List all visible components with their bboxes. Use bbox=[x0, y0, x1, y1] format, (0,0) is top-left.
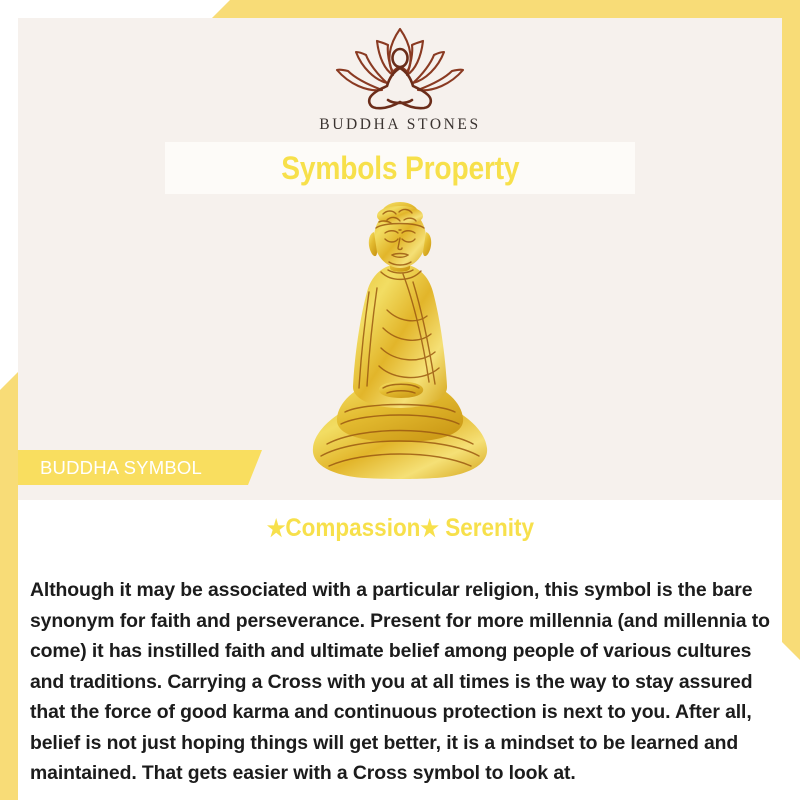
title-banner: Symbols Property bbox=[165, 142, 635, 194]
brand-name: BUDDHA STONES bbox=[0, 116, 800, 134]
star-icon-right: ★ bbox=[420, 515, 439, 541]
attribute-serenity: Serenity bbox=[445, 514, 534, 542]
decorative-left-band bbox=[0, 372, 18, 800]
attributes-subheading: ★Compassion★ Serenity bbox=[0, 514, 800, 543]
attribute-compassion: Compassion bbox=[285, 514, 420, 542]
hero-image bbox=[0, 200, 800, 486]
buddha-symbol-tag-label: BUDDHA SYMBOL bbox=[40, 457, 202, 479]
page-title: Symbols Property bbox=[281, 150, 519, 187]
star-icon-left: ★ bbox=[266, 515, 285, 541]
lotus-meditation-logo-icon bbox=[325, 22, 475, 114]
decorative-right-band bbox=[782, 0, 800, 660]
buddha-symbol-tag: BUDDHA SYMBOL bbox=[18, 450, 262, 485]
body-paragraph: Although it may be associated with a par… bbox=[30, 575, 774, 789]
infographic-page: BUDDHA STONES Symbols Property bbox=[0, 0, 800, 800]
brand-logo: BUDDHA STONES bbox=[0, 22, 800, 134]
decorative-top-band bbox=[212, 0, 800, 18]
golden-seated-buddha-illustration-icon bbox=[295, 200, 505, 486]
